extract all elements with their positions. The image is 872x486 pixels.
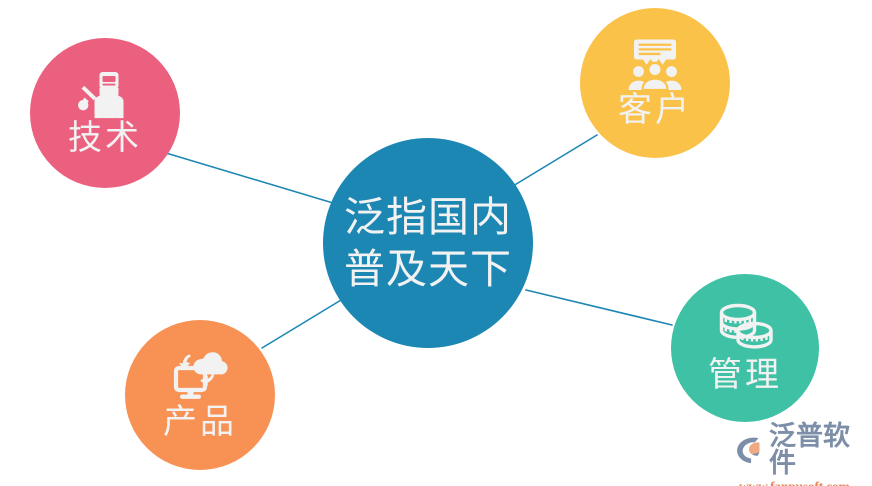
node-product[interactable]: 产品 bbox=[125, 320, 275, 470]
diagram-canvas: 泛指国内 普及天下 bbox=[0, 0, 872, 486]
node-tech[interactable]: 技术 bbox=[30, 38, 180, 188]
stacked-coins-icon bbox=[712, 302, 778, 354]
center-node-label-line1: 泛指国内 bbox=[344, 191, 512, 243]
node-management[interactable]: 管理 bbox=[671, 274, 819, 422]
welder-icon bbox=[73, 70, 137, 120]
fanpu-swoosh-logo-icon bbox=[736, 435, 766, 465]
brand-url: www.fanpusoft.com bbox=[739, 479, 850, 486]
brand-logo[interactable]: 泛普软件 www.fanpusoft.com bbox=[736, 423, 868, 479]
node-customer-label: 客户 bbox=[618, 92, 692, 129]
connector-customer-center bbox=[513, 135, 597, 186]
connector-product-center bbox=[262, 297, 346, 348]
node-management-label: 管理 bbox=[708, 357, 782, 394]
connector-tech-center bbox=[166, 153, 343, 206]
node-product-label: 产品 bbox=[163, 404, 237, 441]
brand-logo-row: 泛普软件 bbox=[736, 423, 868, 477]
node-tech-label: 技术 bbox=[68, 120, 142, 157]
connector-management-center bbox=[526, 290, 672, 325]
node-customer[interactable]: 客户 bbox=[580, 8, 730, 158]
center-node[interactable]: 泛指国内 普及天下 bbox=[323, 138, 533, 348]
center-node-label-line2: 普及天下 bbox=[344, 243, 512, 295]
brand-name: 泛普软件 bbox=[769, 423, 868, 477]
center-node-label: 泛指国内 普及天下 bbox=[344, 191, 512, 296]
cloud-monitor-sync-icon bbox=[167, 349, 233, 403]
people-speech-bubble-icon bbox=[623, 38, 687, 92]
